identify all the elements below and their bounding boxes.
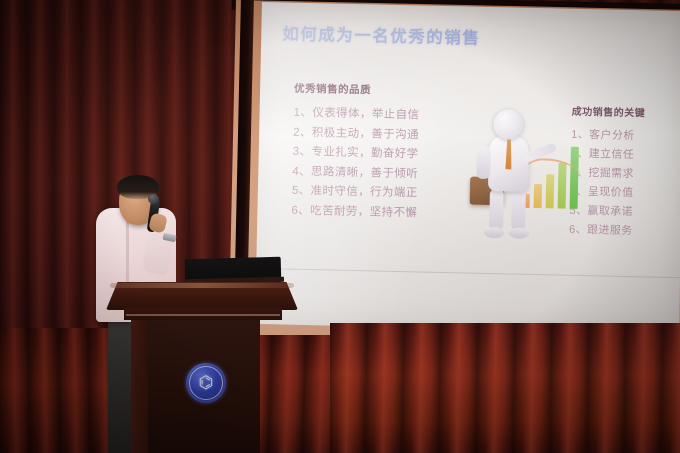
podium-top-highlight: [110, 283, 294, 288]
stage-curtain-lower-left: [0, 328, 120, 453]
slide-title: 如何成为一名优秀的销售: [282, 20, 480, 48]
left-column-heading: 优秀销售的品质: [294, 81, 474, 100]
emblem-ring: [189, 366, 223, 400]
figure-foot-left: [484, 227, 504, 238]
figure-foot-right: [509, 227, 529, 238]
left-bullet-6: 6、吃苦耐劳，坚持不懈: [291, 201, 471, 224]
projection-screen: 如何成为一名优秀的销售 优秀销售的品质 1、仪表得体，举止自信 2、积极主动，善…: [255, 2, 680, 333]
podium-neck-highlight: [126, 314, 280, 316]
figure-head: [493, 109, 524, 140]
figure-arm-left: [476, 147, 491, 179]
figure-leg-left: [489, 189, 504, 231]
stage-curtain-lower-right: [330, 323, 680, 453]
figure-leg-right: [511, 189, 526, 231]
slide-left-column: 优秀销售的品质 1、仪表得体，举止自信 2、积极主动，善于沟通 3、专业扎实，勤…: [291, 81, 474, 225]
university-emblem-icon: ⌬: [186, 363, 226, 403]
businessman-growth-chart-graphic: [465, 103, 590, 252]
podium-side-panel: [131, 320, 149, 453]
screen-seam: [256, 268, 680, 278]
presentation-photo-scene: 如何成为一名优秀的销售 优秀销售的品质 1、仪表得体，举止自信 2、积极主动，善…: [0, 0, 680, 453]
